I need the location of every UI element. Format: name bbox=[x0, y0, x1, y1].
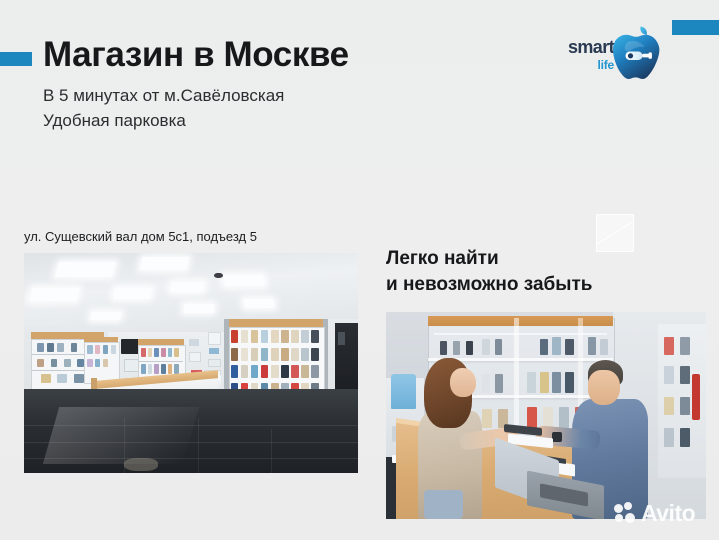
logo-text-smart: smart bbox=[552, 38, 614, 57]
page-title: Магазин в Москве bbox=[43, 34, 473, 76]
avito-watermark: Avito bbox=[614, 500, 695, 526]
logo-text-life: life bbox=[552, 58, 614, 72]
subtitle-line-2: Удобная парковка bbox=[43, 108, 473, 133]
right-headline-line-1: Легко найти bbox=[386, 248, 499, 269]
brand-logo: smart life bbox=[552, 24, 662, 86]
heading-block: Магазин в Москве В 5 минутах от м.Савёло… bbox=[43, 34, 473, 133]
accent-bar-left bbox=[0, 52, 32, 66]
customer-at-counter-photo bbox=[386, 312, 706, 519]
right-headline-line-2: и невозможно забыть bbox=[386, 274, 592, 295]
avito-brand-text: Avito bbox=[641, 502, 695, 525]
right-headline: Легко найти и невозможно забыть bbox=[386, 246, 592, 298]
slide-canvas: Магазин в Москве В 5 минутах от м.Савёло… bbox=[0, 0, 719, 540]
faint-watermark-artifact bbox=[596, 214, 634, 252]
logo-wordmark: smart life bbox=[552, 38, 614, 72]
address-caption: ул. Сущевский вал дом 5с1, подъезд 5 bbox=[24, 229, 257, 245]
apple-logo-icon bbox=[610, 24, 662, 86]
accent-bar-right bbox=[672, 20, 719, 35]
subtitle-line-1: В 5 минутах от м.Савёловская bbox=[43, 83, 473, 108]
avito-dots-icon bbox=[614, 502, 636, 524]
store-interior-photo bbox=[24, 253, 358, 473]
